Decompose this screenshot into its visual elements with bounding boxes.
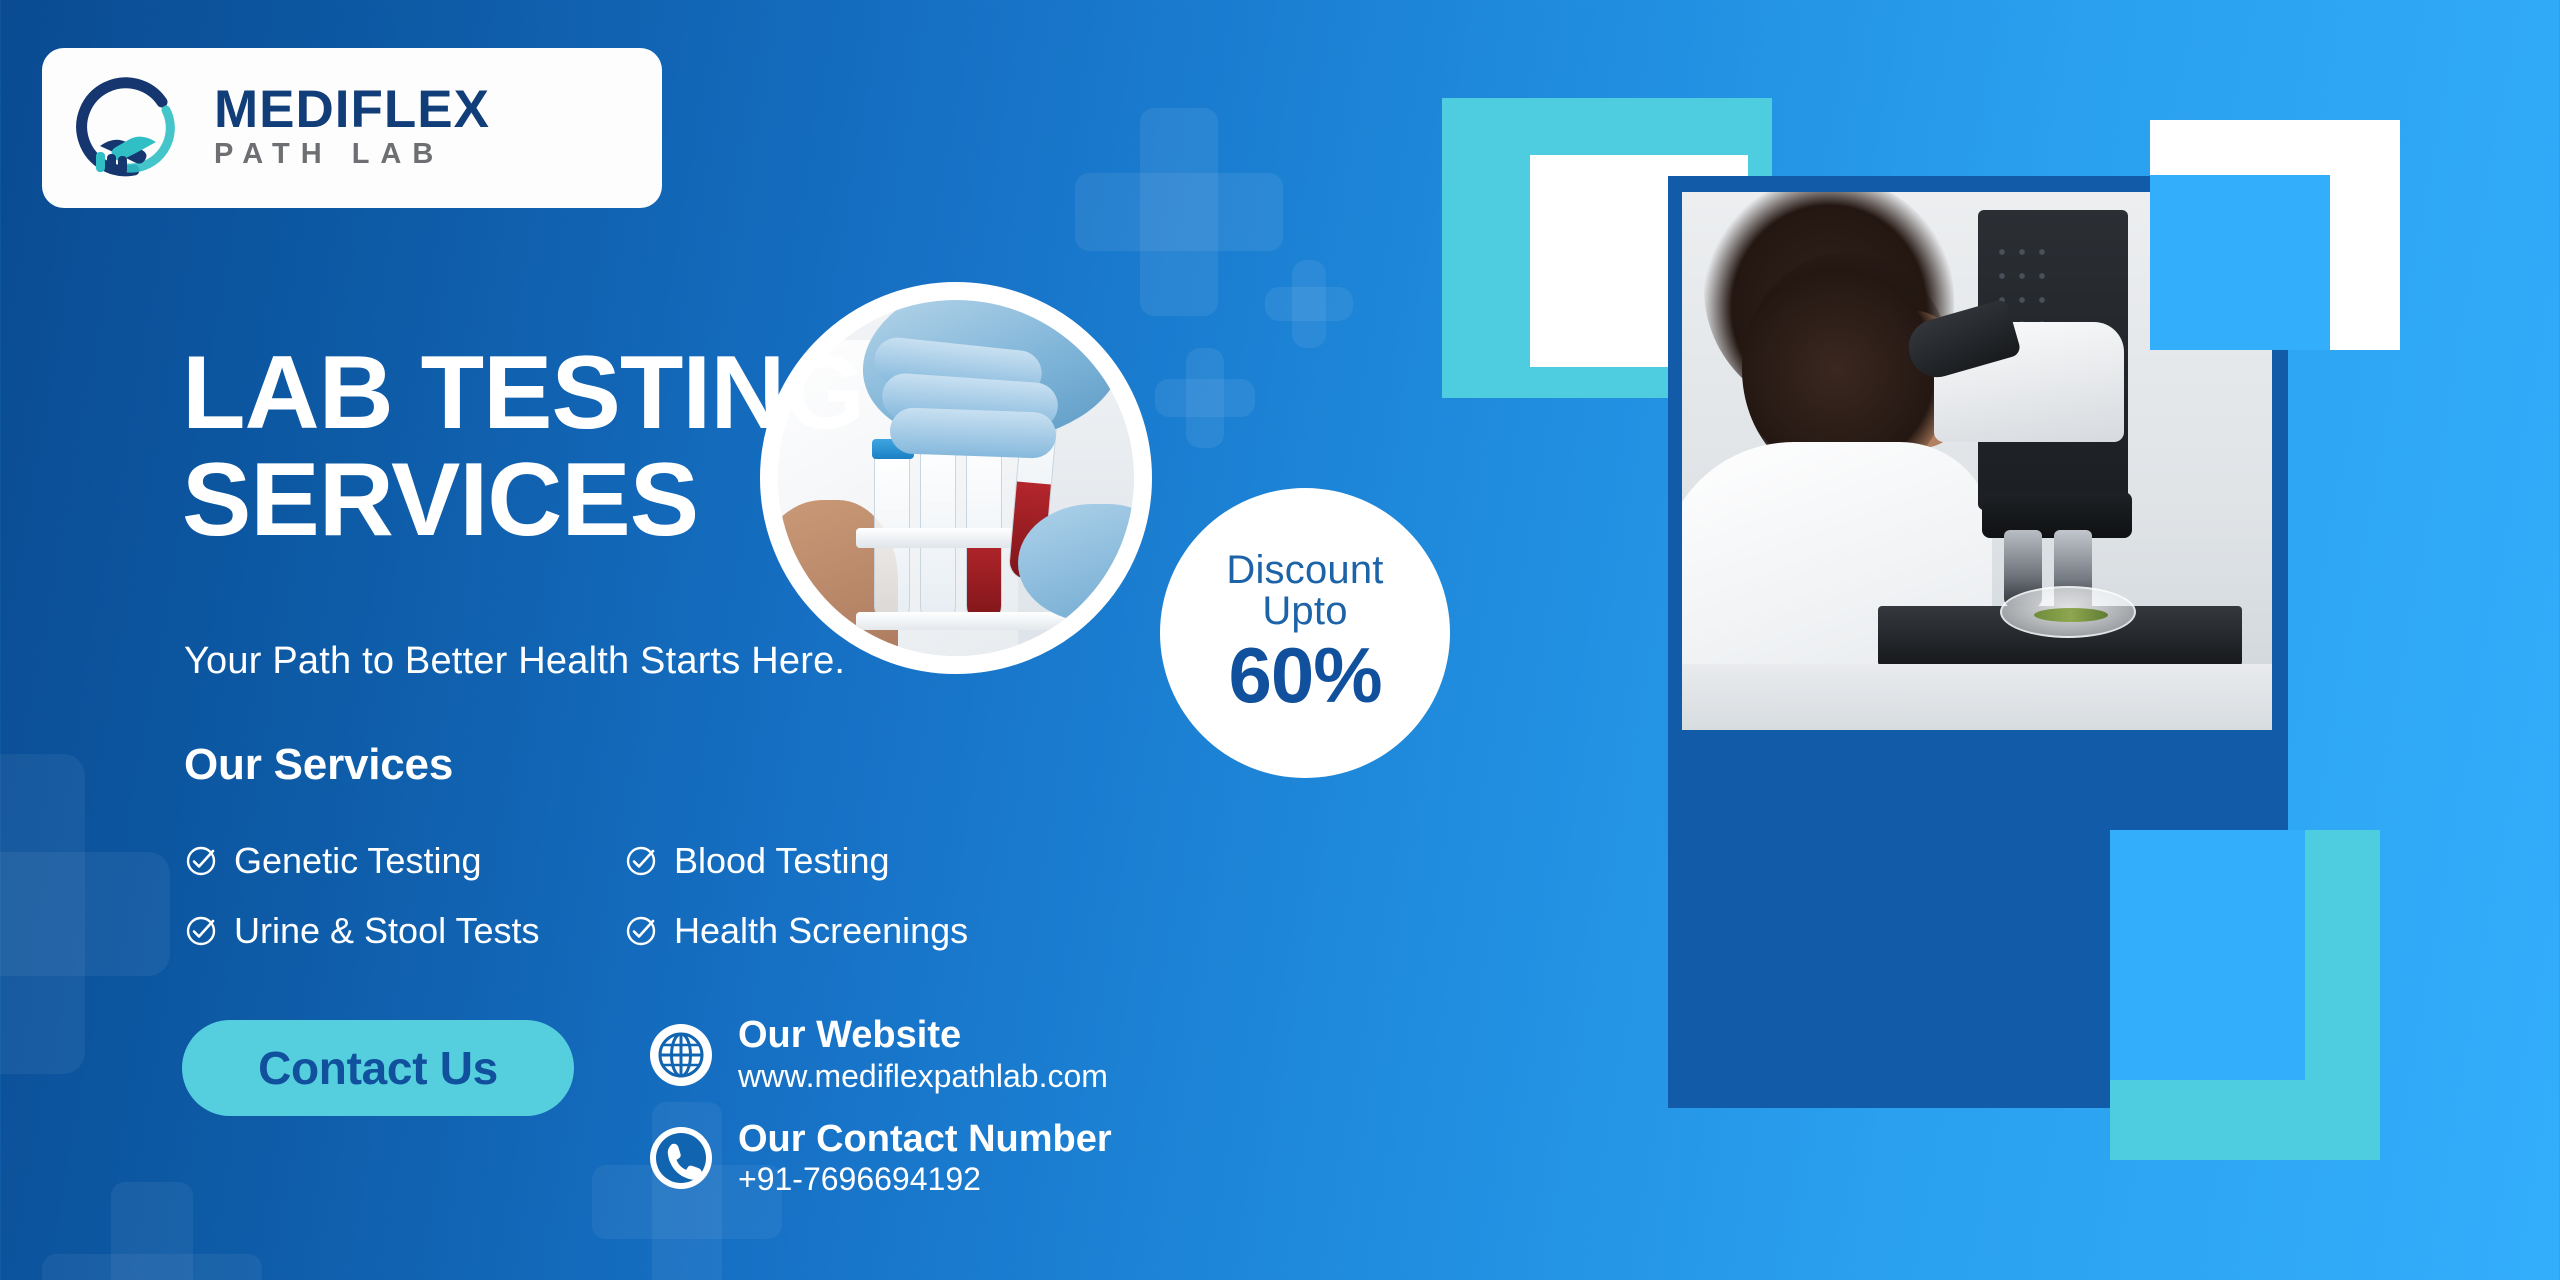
check-circle-icon [184,914,218,948]
website-value: www.mediflexpathlab.com [738,1058,1108,1094]
medical-cross-decoration [1075,108,1283,316]
check-circle-icon [624,844,658,878]
service-item-genetic-testing[interactable]: Genetic Testing [184,840,624,882]
photo-collage [1460,0,2560,1280]
service-item-urine-stool-tests[interactable]: Urine & Stool Tests [184,910,624,952]
service-label: Genetic Testing [234,840,481,882]
phone-value: +91-7696694192 [738,1161,981,1197]
medical-cross-decoration [1265,260,1353,348]
brand-logo-card: MEDIFLEX PATH LAB [42,48,662,208]
page-title: LAB TESTING SERVICES [182,340,1082,554]
brand-name: MEDIFLEX [214,83,490,136]
check-circle-icon [624,914,658,948]
service-label: Urine & Stool Tests [234,910,539,952]
contact-info: Our Website www.mediflexpathlab.com Our … [648,1014,1408,1221]
website-label: Our Website [738,1014,961,1056]
contact-us-button-label: Contact Us [258,1041,498,1095]
tagline: Your Path to Better Health Starts Here. [184,640,845,683]
globe-icon [648,1022,714,1088]
discount-line-1: Discount [1226,550,1383,592]
white-corner-bracket-decoration [2150,120,2400,350]
phone-icon [648,1125,714,1191]
services-list: Genetic Testing Blood Testing Urine & St… [184,840,1014,952]
discount-line-2: Upto [1262,591,1347,633]
medical-cross-decoration [1155,348,1255,448]
contact-row-phone[interactable]: Our Contact Number +91-7696694192 [648,1118,1408,1200]
discount-percent: 60% [1228,635,1381,716]
contact-us-button[interactable]: Contact Us [182,1020,574,1116]
medical-cross-decoration [42,1182,262,1280]
service-label: Health Screenings [674,910,968,952]
service-item-blood-testing[interactable]: Blood Testing [624,840,1014,882]
contact-row-website[interactable]: Our Website www.mediflexpathlab.com [648,1014,1408,1096]
services-heading: Our Services [184,740,453,790]
medical-cross-decoration [0,754,170,1074]
check-circle-icon [184,844,218,878]
service-label: Blood Testing [674,840,890,882]
teal-corner-bracket-decoration [2110,830,2380,1160]
service-item-health-screenings[interactable]: Health Screenings [624,910,1014,952]
discount-badge: Discount Upto 60% [1160,488,1450,778]
headline-line-2: SERVICES [182,447,1082,554]
headline-line-1: LAB TESTING [182,340,1082,447]
phone-label: Our Contact Number [738,1118,1112,1160]
handshake-circle-icon [70,72,192,184]
brand-subtitle: PATH LAB [214,136,490,174]
